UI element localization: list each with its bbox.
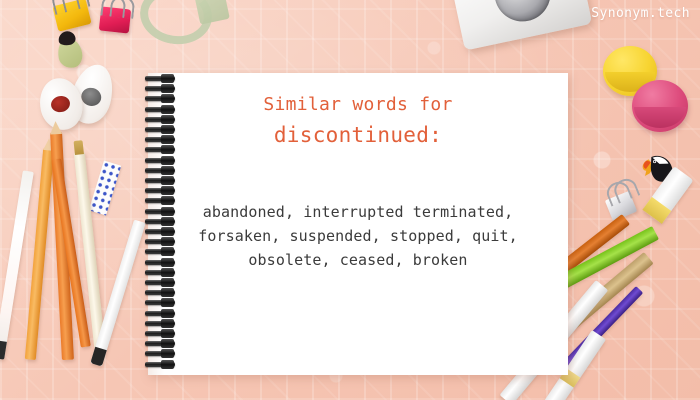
spiral-coil bbox=[145, 300, 175, 305]
spiral-coil bbox=[145, 351, 175, 356]
spiral-coil bbox=[145, 76, 175, 81]
spiral-coil bbox=[145, 96, 175, 101]
spiral-coil bbox=[145, 168, 175, 173]
page-title-prefix: Similar words for bbox=[263, 91, 452, 118]
spiral-coil bbox=[145, 249, 175, 254]
spiral-coil bbox=[145, 117, 175, 122]
spiral-coil bbox=[145, 239, 175, 244]
spiral-coil bbox=[145, 321, 175, 326]
macaron-pink bbox=[632, 80, 688, 132]
spiral-coil bbox=[145, 147, 175, 152]
spiral-coil bbox=[145, 86, 175, 91]
spiral-coil bbox=[145, 107, 175, 112]
site-watermark: Synonym.tech bbox=[591, 6, 690, 21]
spiral-coil bbox=[145, 209, 175, 214]
notepad-page: Similar words for discontinued: abandone… bbox=[148, 73, 568, 375]
notepad: Similar words for discontinued: abandone… bbox=[148, 73, 568, 375]
spiral-coil bbox=[145, 270, 175, 275]
spiral-coil bbox=[145, 331, 175, 336]
spiral-coil bbox=[145, 362, 175, 367]
spiral-coil bbox=[145, 290, 175, 295]
spiral-coil bbox=[145, 280, 175, 285]
binder-clip-pink-icon bbox=[99, 6, 131, 33]
spiral-coil bbox=[145, 178, 175, 183]
page-title-query-word: discontinued: bbox=[274, 120, 442, 152]
synonym-list: abandoned, interrupted terminated, forsa… bbox=[184, 200, 532, 273]
spiral-coil bbox=[145, 260, 175, 265]
spiral-coil bbox=[145, 188, 175, 193]
spiral-coil bbox=[145, 158, 175, 163]
spiral-coil bbox=[145, 229, 175, 234]
spiral-binding bbox=[145, 76, 183, 372]
spiral-coil bbox=[145, 219, 175, 224]
spiral-coil bbox=[145, 137, 175, 142]
spiral-coil bbox=[145, 311, 175, 316]
spiral-coil bbox=[145, 341, 175, 346]
spiral-coil bbox=[145, 127, 175, 132]
desk-scene: Similar words for discontinued: abandone… bbox=[0, 0, 700, 400]
spiral-coil bbox=[145, 198, 175, 203]
